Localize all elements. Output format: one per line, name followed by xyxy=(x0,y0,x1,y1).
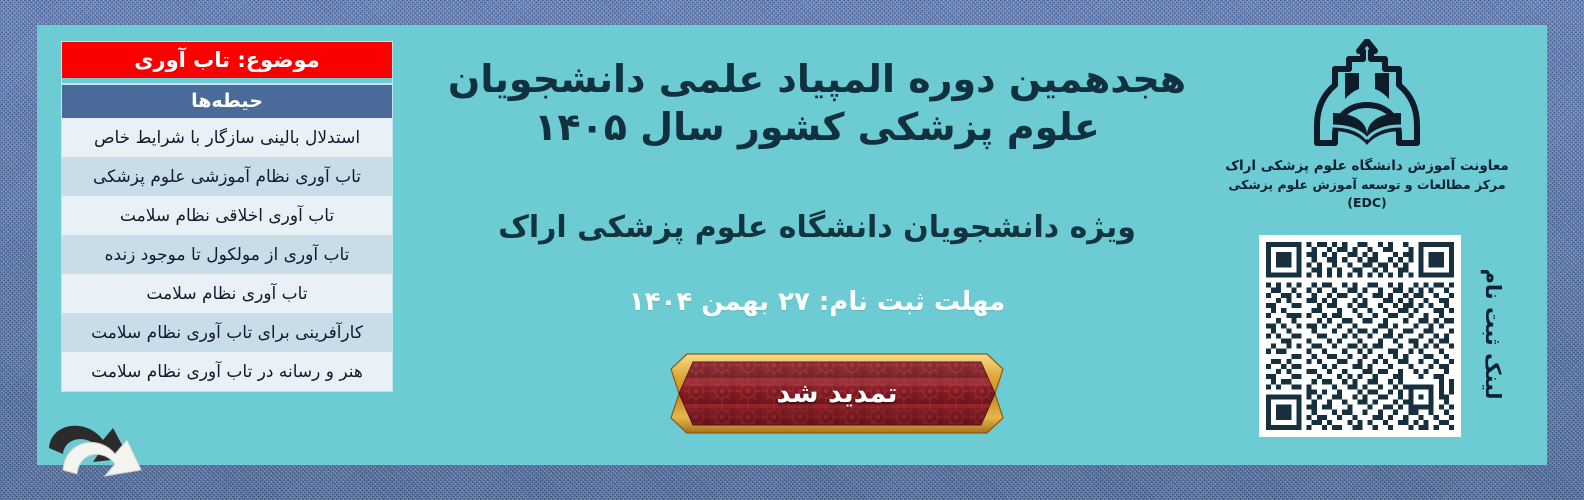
curved-arrow-icon xyxy=(29,400,179,495)
table-row: تاب آوری اخلاقی نظام سلامت xyxy=(62,196,392,235)
page-title: هجدهمین دوره المپیاد علمی دانشجویان علوم… xyxy=(397,55,1237,151)
banner-root: موضوع: تاب آوری حیطه‌ها استدلال بالینی س… xyxy=(0,0,1584,500)
table-row: هنر و رسانه در تاب آوری نظام سلامت xyxy=(62,352,392,391)
register-link-label[interactable]: لینک ثبت نام xyxy=(1476,239,1510,429)
banner-stage: موضوع: تاب آوری حیطه‌ها استدلال بالینی س… xyxy=(37,25,1547,465)
table-row: تاب آوری از مولکول تا موجود زنده xyxy=(62,235,392,274)
domains-column-header: حیطه‌ها xyxy=(62,83,392,118)
mosque-book-logo-icon xyxy=(1307,39,1427,151)
table-row: تاب آوری نظام آموزشی علوم پزشکی xyxy=(62,157,392,196)
subtitle: ویژه دانشجویان دانشگاه علوم پزشکی اراک xyxy=(397,210,1237,245)
main-title-line-1: هجدهمین دوره المپیاد علمی دانشجویان xyxy=(397,55,1237,103)
table-row: کارآفرینی برای تاب آوری نظام سلامت xyxy=(62,313,392,352)
center-content: هجدهمین دوره المپیاد علمی دانشجویان علوم… xyxy=(397,25,1237,465)
qr-code-icon xyxy=(1266,242,1454,430)
org-name-secondary: مرکز مطالعات و توسعه آموزش علوم پزشکی (E… xyxy=(1217,176,1517,212)
main-title-line-2: علوم پزشکی کشور سال ۱۴۰۵ xyxy=(397,103,1237,151)
qr-code-container[interactable] xyxy=(1259,235,1461,437)
registration-deadline: مهلت ثبت نام: ۲۷ بهمن ۱۴۰۴ xyxy=(397,287,1237,317)
org-name-primary: معاونت آموزش دانشگاه علوم پزشکی اراک xyxy=(1217,157,1517,176)
topic-banner: موضوع: تاب آوری xyxy=(62,42,392,78)
table-row: تاب آوری نظام سلامت xyxy=(62,274,392,313)
extended-button[interactable]: تمدید شد xyxy=(657,352,1017,435)
ribbon-shape-icon xyxy=(657,352,1017,435)
topic-domains-table: موضوع: تاب آوری حیطه‌ها استدلال بالینی س… xyxy=(62,42,392,391)
organization-logo-block: معاونت آموزش دانشگاه علوم پزشکی اراک مرک… xyxy=(1217,39,1517,212)
table-row: استدلال بالینی سازگار با شرایط خاص xyxy=(62,118,392,157)
